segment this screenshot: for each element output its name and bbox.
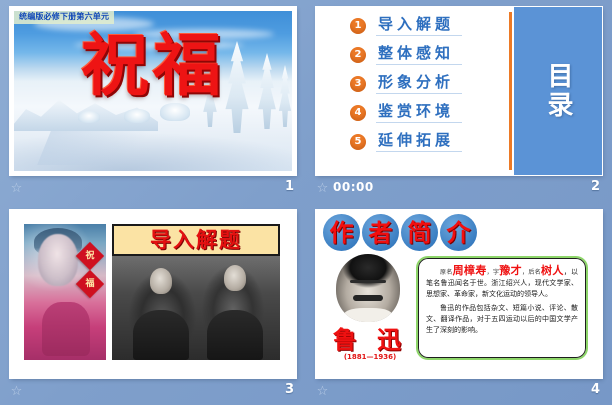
poster-diamond-label: 福 (76, 270, 104, 298)
contents-label: 延伸拓展 (376, 131, 462, 152)
contents-number: 3 (350, 76, 366, 92)
bio-paragraph-1: 原名周樟寿，字豫才，后名树人，以笔名鲁迅闻名于世。浙江绍兴人，现代文学家、思想家… (426, 265, 578, 300)
slide-2[interactable]: 1 导入解题 2 整体感知 3 形象分析 4 鉴赏环境 (316, 7, 602, 175)
portrait-collar (344, 308, 392, 322)
contents-number: 1 (350, 18, 366, 34)
contents-number: 2 (350, 47, 366, 63)
contents-item[interactable]: 2 整体感知 (350, 43, 509, 66)
contents-label: 鉴赏环境 (376, 102, 462, 123)
contents-sidebar: 目录 (514, 7, 602, 175)
bio-highlight: 周樟寿 (453, 264, 487, 277)
author-intro-title: 作 者 简 介 (323, 214, 477, 251)
page-number: 3 (285, 382, 294, 397)
slide-1[interactable]: 统编版必修下册第六单元 祝福 (10, 7, 296, 175)
slide-title: 祝福 (10, 29, 296, 103)
slide-cell-3[interactable]: 祝 福 导入解题 ☆ 3 (0, 203, 306, 405)
contents-item[interactable]: 4 鉴赏环境 (350, 101, 509, 124)
star-icon: ☆ (10, 385, 23, 398)
poster-face (38, 234, 78, 286)
slide-3[interactable]: 祝 福 导入解题 (10, 210, 296, 378)
bio-prefix: 原名 (440, 269, 453, 276)
slide-4[interactable]: 作 者 简 介 鲁 迅 (1881—1936) 原名周樟寿，字豫才，后名树人，以… (316, 210, 602, 378)
star-icon: ☆ (10, 182, 23, 195)
author-name: 鲁 迅 (328, 326, 412, 354)
portrait-mustache (353, 295, 383, 301)
edition-label: 统编版必修下册第六单元 (14, 11, 114, 24)
title-char-circle: 简 (401, 214, 438, 251)
bio-highlight: 豫才 (499, 264, 522, 277)
contents-body: 1 导入解题 2 整体感知 3 形象分析 4 鉴赏环境 (316, 7, 602, 175)
page-number: 4 (591, 382, 600, 397)
contents-number: 4 (350, 105, 366, 121)
lu-xun-portrait (336, 254, 400, 322)
poster-diamond-label: 祝 (76, 242, 104, 270)
title-char-circle: 作 (323, 214, 360, 251)
contents-item[interactable]: 3 形象分析 (350, 72, 509, 95)
figure-body (207, 310, 263, 360)
bio-sep: ，字 (487, 269, 500, 276)
figure-head (150, 268, 172, 294)
author-bio-box: 原名周樟寿，字豫才，后名树人，以笔名鲁迅闻名于世。浙江绍兴人，现代文学家、思想家… (416, 256, 588, 360)
contents-number: 5 (350, 134, 366, 150)
page-number: 1 (285, 179, 294, 194)
snow-tracks (37, 131, 261, 165)
star-icon: ☆ (316, 385, 329, 398)
slide-cell-2[interactable]: 1 导入解题 2 整体感知 3 形象分析 4 鉴赏环境 (306, 0, 612, 202)
film-poster-image: 祝 福 (24, 224, 106, 360)
star-icon: ☆ (316, 182, 329, 195)
bio-highlight: 树人 (541, 264, 564, 277)
author-dates: (1881—1936) (328, 353, 412, 362)
sidebar-title: 目录 (543, 62, 573, 120)
slide-cell-1[interactable]: 统编版必修下册第六单元 祝福 ☆ 1 (0, 0, 306, 202)
contents-item[interactable]: 5 延伸拓展 (350, 130, 509, 153)
footer-time: 00:00 (333, 180, 374, 194)
slide-cell-4[interactable]: 作 者 简 介 鲁 迅 (1881—1936) 原名周樟寿，字豫才，后名树人，以… (306, 203, 612, 405)
title-char-circle: 介 (440, 214, 477, 251)
contents-label: 形象分析 (376, 73, 462, 94)
lesson-intro-body: 祝 福 导入解题 (10, 210, 296, 378)
poster-figure (42, 302, 90, 356)
portrait-brow (350, 280, 386, 283)
section-banner-title: 导入解题 (112, 224, 280, 256)
bio-paragraph-2: 鲁迅的作品包括杂文、短篇小说、评论、散文、翻译作品，对于五四运动以后的中国文学产… (426, 303, 578, 336)
film-still-photo (112, 256, 280, 360)
contents-item[interactable]: 1 导入解题 (350, 14, 509, 37)
author-intro-body: 作 者 简 介 鲁 迅 (1881—1936) 原名周樟寿，字豫才，后名树人，以… (316, 210, 602, 378)
slide-footer-2: ☆ 00:00 2 (306, 178, 612, 202)
contents-list: 1 导入解题 2 整体感知 3 形象分析 4 鉴赏环境 (316, 7, 509, 175)
slide-footer-1: ☆ 1 (0, 178, 306, 202)
page-number: 2 (591, 179, 600, 194)
vertical-divider (509, 12, 512, 170)
bio-sep: ，后名 (522, 269, 541, 276)
figure-body (133, 310, 189, 360)
figure-head (224, 265, 246, 291)
slide-preview-sheet: 统编版必修下册第六单元 祝福 ☆ 1 1 导入解题 2 整体感知 (0, 0, 612, 405)
title-char-circle: 者 (362, 214, 399, 251)
slide-footer-4: ☆ 4 (306, 381, 612, 405)
slide-footer-3: ☆ 3 (0, 381, 306, 405)
contents-label: 整体感知 (376, 44, 462, 65)
contents-label: 导入解题 (376, 15, 462, 36)
